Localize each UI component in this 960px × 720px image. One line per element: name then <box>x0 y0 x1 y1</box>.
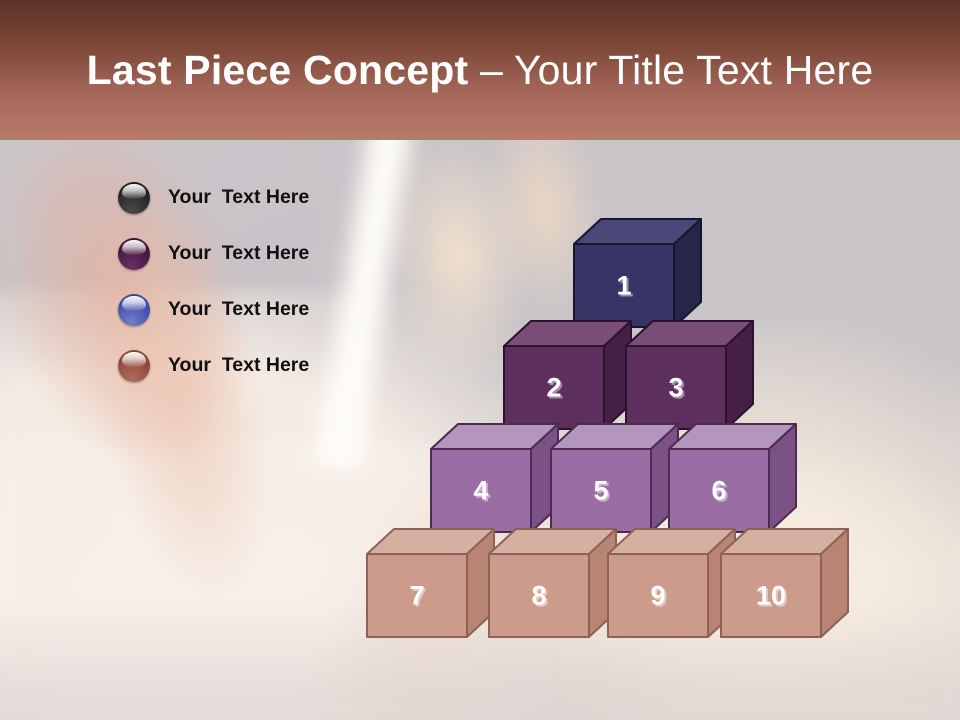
cube-6[interactable]: 66 <box>668 423 797 533</box>
cube-label-4: 4 <box>473 476 488 506</box>
bullet-list: Your Text HereYour Text HereYour Text He… <box>118 180 388 404</box>
bullet-row-2[interactable]: Your Text Here <box>118 236 388 292</box>
cube-label-3: 3 <box>668 373 683 403</box>
cube-label-7: 7 <box>409 581 424 611</box>
bullet-row-3[interactable]: Your Text Here <box>118 292 388 348</box>
bullet-gray-icon <box>118 182 150 214</box>
bullet-row-4[interactable]: Your Text Here <box>118 348 388 404</box>
title-bar: Last Piece Concept – Your Title Text Her… <box>0 0 960 140</box>
bullet-label-2: Your Text Here <box>168 242 309 265</box>
page-title: Last Piece Concept – Your Title Text Her… <box>0 0 960 140</box>
bullet-blue-icon <box>118 294 150 326</box>
bullet-rose-icon <box>118 350 150 382</box>
bullet-row-1[interactable]: Your Text Here <box>118 180 388 236</box>
cube-label-1: 1 <box>616 271 631 301</box>
cube-label-5: 5 <box>593 476 608 506</box>
page-title-light: – Your Title Text Here <box>468 47 873 93</box>
cube-2[interactable]: 22 <box>503 320 632 430</box>
cube-label-6: 6 <box>711 476 726 506</box>
bullet-purple-icon <box>118 238 150 270</box>
cube-3[interactable]: 33 <box>625 320 754 430</box>
cube-10[interactable]: 1010 <box>720 528 849 638</box>
bullet-label-1: Your Text Here <box>168 186 309 209</box>
cube-9[interactable]: 99 <box>607 528 736 638</box>
page-title-bold: Last Piece Concept <box>87 47 469 93</box>
cube-label-10: 10 <box>756 581 786 611</box>
slide-canvas: Last Piece Concept – Your Title Text Her… <box>0 0 960 720</box>
bullet-label-3: Your Text Here <box>168 298 309 321</box>
cube-4[interactable]: 44 <box>430 423 559 533</box>
cube-5[interactable]: 55 <box>550 423 679 533</box>
bullet-label-4: Your Text Here <box>168 354 309 377</box>
cube-7[interactable]: 77 <box>366 528 495 638</box>
cube-label-8: 8 <box>531 581 546 611</box>
cube-label-2: 2 <box>546 373 561 403</box>
cube-label-9: 9 <box>650 581 665 611</box>
cube-8[interactable]: 88 <box>488 528 617 638</box>
cube-1[interactable]: 11 <box>573 218 702 328</box>
